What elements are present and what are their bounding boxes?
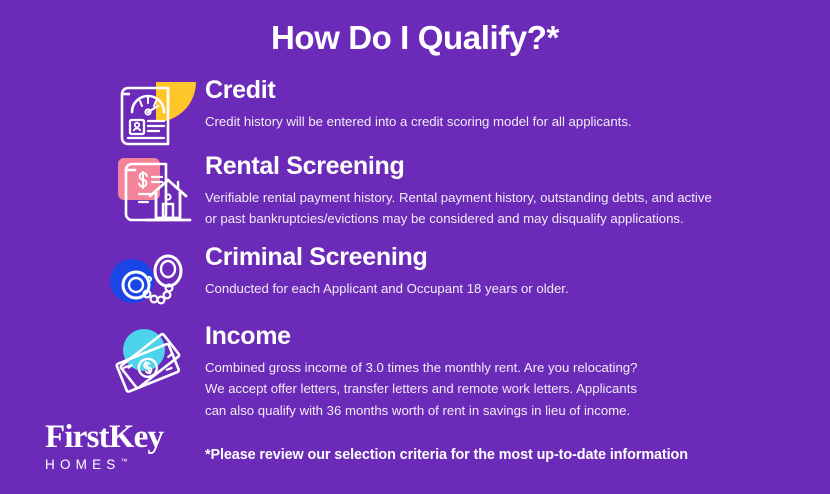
criminal-heading: Criminal Screening xyxy=(205,243,810,271)
trademark-icon: ™ xyxy=(121,459,128,466)
income-paragraph-1: Combined gross income of 3.0 times the m… xyxy=(205,357,730,378)
logo-wordmark: FirstKey xyxy=(45,421,205,454)
credit-paragraph-1: Credit history will be entered into a cr… xyxy=(205,111,735,132)
handcuffs-icon xyxy=(110,243,200,321)
section-criminal-screening: Criminal Screening Conducted for each Ap… xyxy=(110,243,810,299)
rental-heading: Rental Screening xyxy=(205,152,810,180)
income-heading: Income xyxy=(205,322,810,350)
section-income: Income Combined gross income of 3.0 time… xyxy=(110,322,810,421)
firstkey-homes-logo: FirstKey HOMES™ xyxy=(45,421,205,474)
rental-text-block: Rental Screening Verifiable rental payme… xyxy=(205,152,810,230)
rent-receipt-house-icon xyxy=(110,152,200,230)
banknotes-icon xyxy=(110,322,200,400)
rental-paragraph-1: Verifiable rental payment history. Renta… xyxy=(205,187,730,208)
section-rental-screening: Rental Screening Verifiable rental payme… xyxy=(110,152,810,230)
rental-paragraph-2: or past bankruptcies/evictions may be co… xyxy=(205,208,730,229)
credit-heading: Credit xyxy=(205,76,810,104)
logo-subtitle: HOMES™ xyxy=(45,457,128,472)
income-text-block: Income Combined gross income of 3.0 time… xyxy=(205,322,810,421)
page-title: How Do I Qualify?* xyxy=(0,20,830,56)
footnote-text: *Please review our selection criteria fo… xyxy=(205,447,688,463)
criminal-text-block: Criminal Screening Conducted for each Ap… xyxy=(205,243,810,299)
criminal-paragraph-1: Conducted for each Applicant and Occupan… xyxy=(205,278,735,299)
income-paragraph-3: can also qualify with 36 months worth of… xyxy=(205,400,730,421)
qualification-infographic: How Do I Qualify?* xyxy=(0,0,830,494)
credit-report-icon xyxy=(110,76,200,154)
logo-subtitle-text: HOMES xyxy=(45,457,121,472)
credit-text-block: Credit Credit history will be entered in… xyxy=(205,76,810,132)
section-credit: Credit Credit history will be entered in… xyxy=(110,76,810,132)
income-paragraph-2: We accept offer letters, transfer letter… xyxy=(205,378,730,399)
